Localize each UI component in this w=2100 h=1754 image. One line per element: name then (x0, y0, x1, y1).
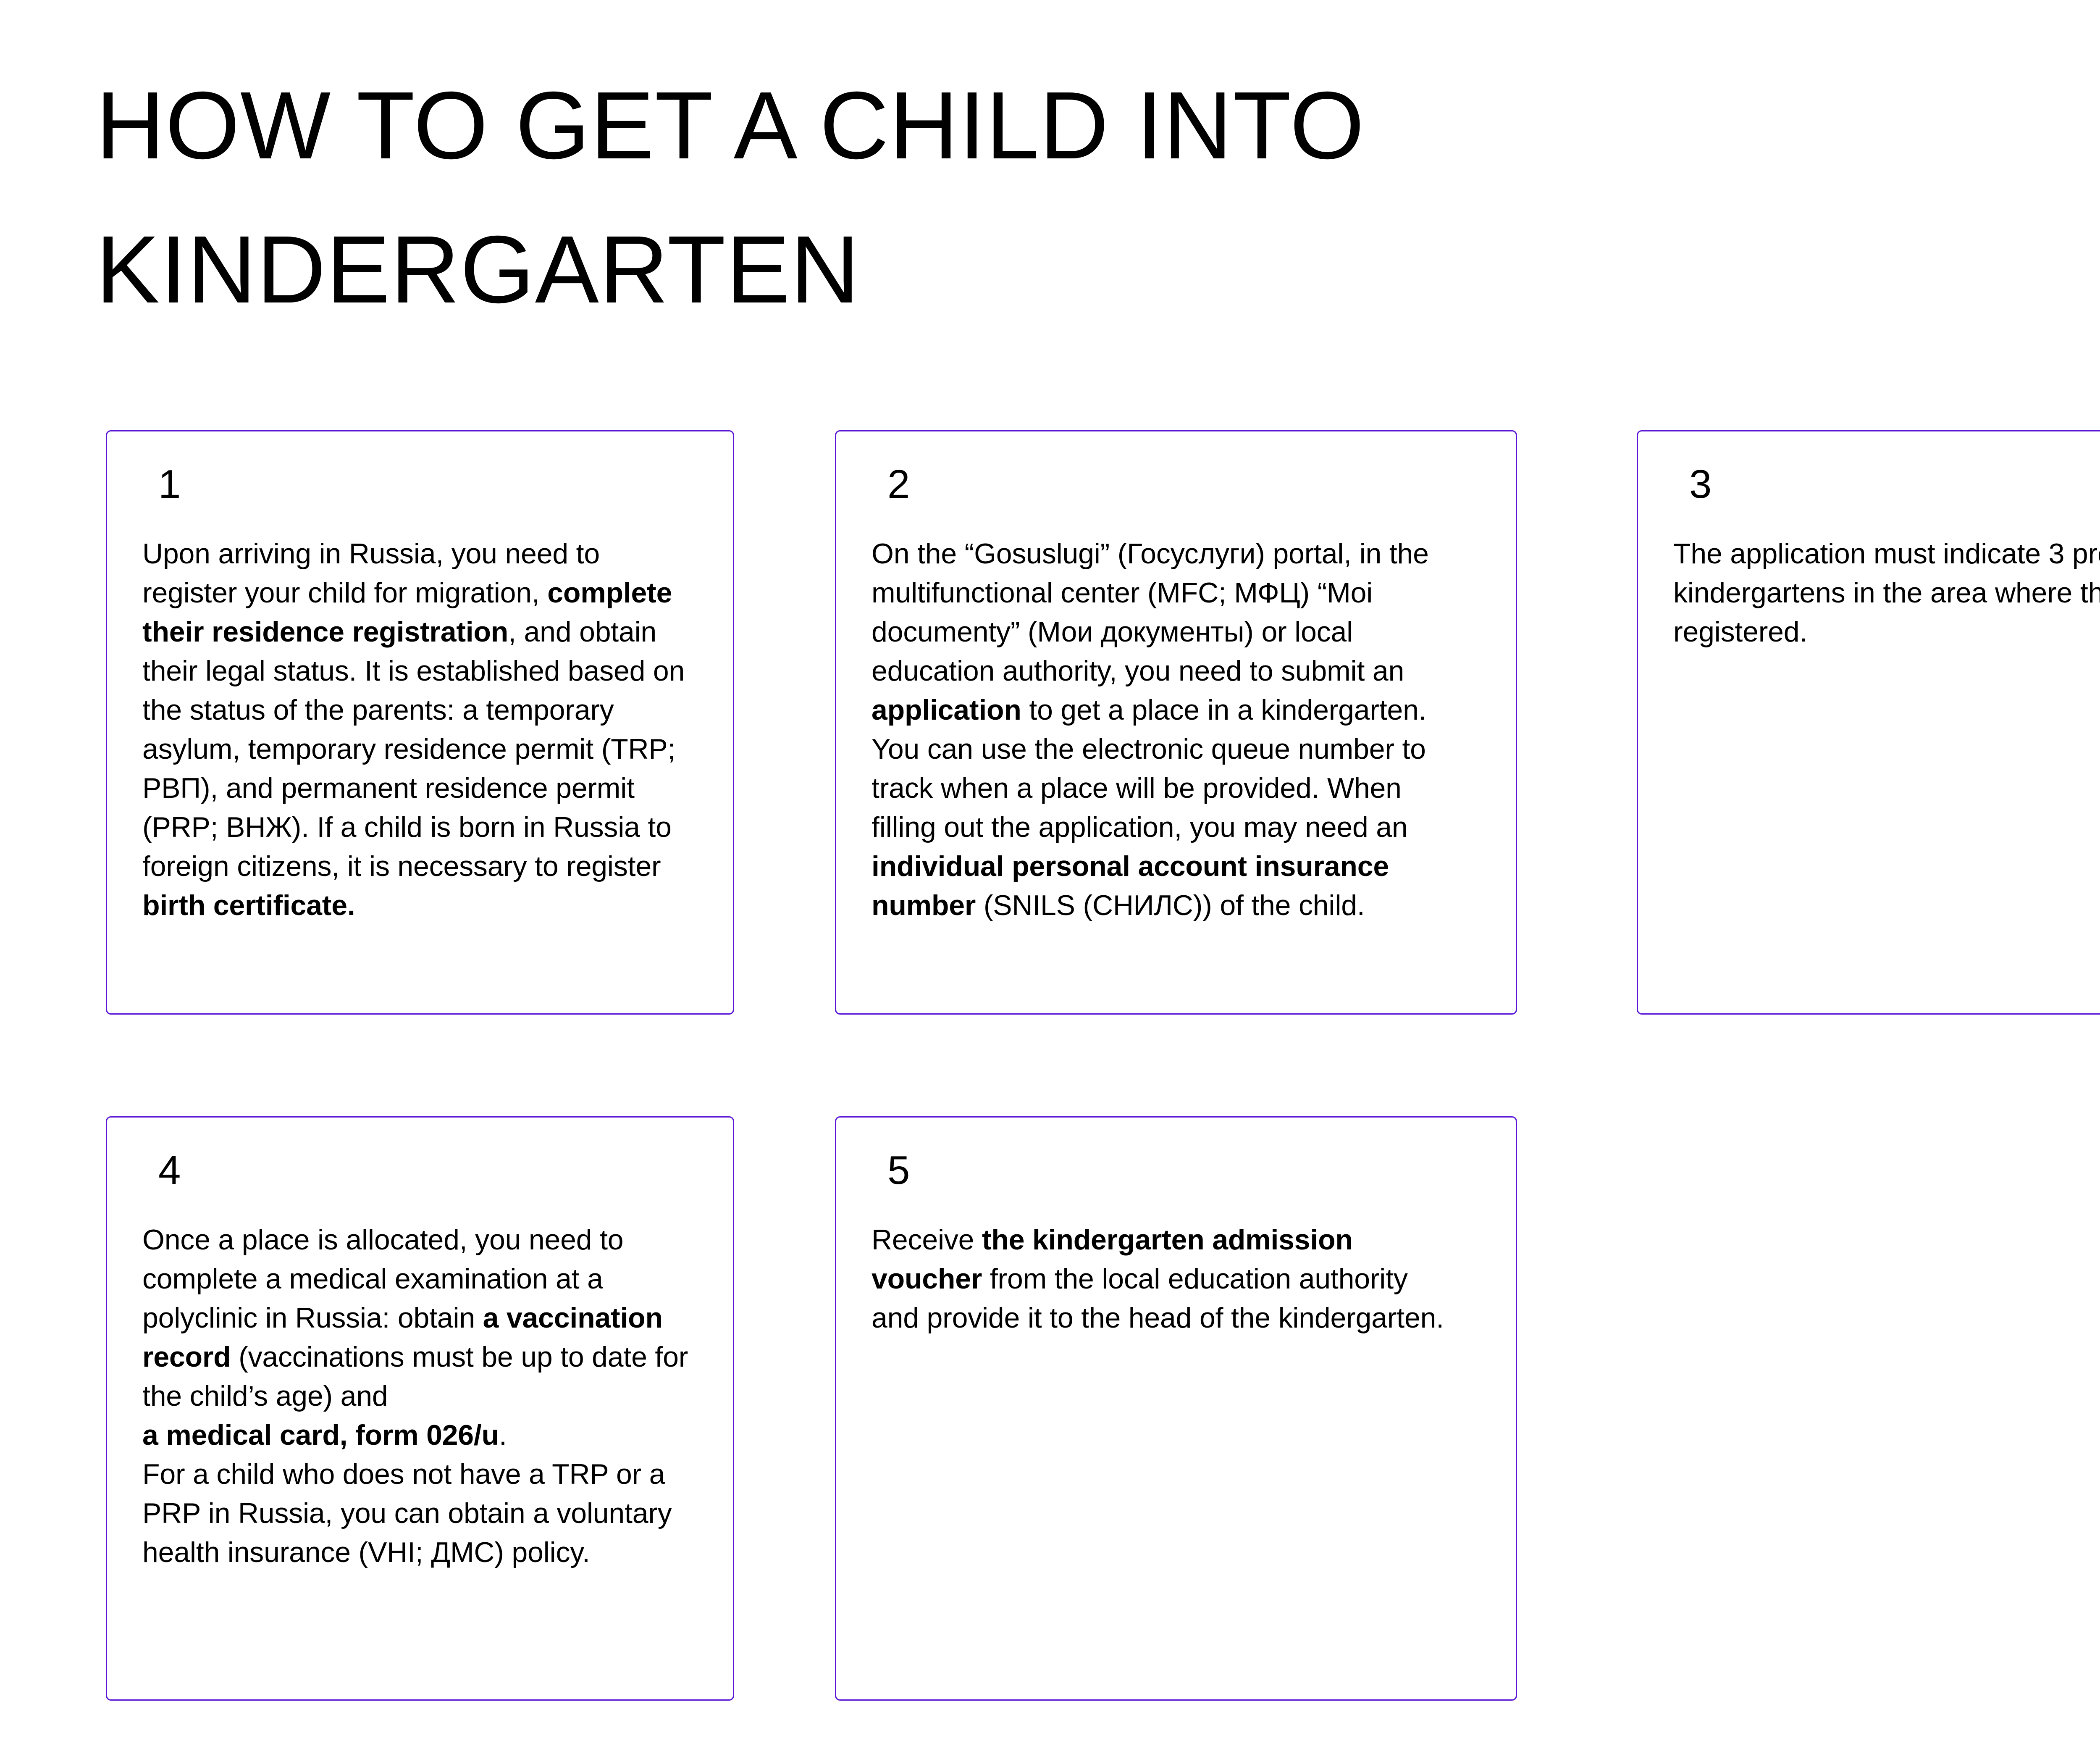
step-card-1: 1 Upon arriving in Russia, you need to r… (106, 430, 734, 1015)
step-number: 4 (158, 1150, 181, 1191)
steps-grid: 1 Upon arriving in Russia, you need to r… (0, 0, 2100, 1754)
step-card-3: 3 The application must indicate 3 prefer… (1637, 430, 2100, 1015)
step-card-5: 5 Receive the kindergarten admission vou… (835, 1116, 1517, 1701)
step-number: 3 (1689, 464, 1711, 505)
step-number: 5 (887, 1150, 910, 1191)
step-number: 1 (158, 464, 181, 505)
step-text: Once a place is allocated, you need to c… (142, 1220, 693, 1572)
step-text: Receive the kindergarten admission vouch… (871, 1220, 1459, 1338)
step-text: The application must indicate 3 preferre… (1673, 534, 2100, 652)
step-card-2: 2 On the “Gosuslugi” (Госуслуги) portal,… (835, 430, 1517, 1015)
step-text: Upon arriving in Russia, you need to reg… (142, 534, 693, 925)
step-card-4: 4 Once a place is allocated, you need to… (106, 1116, 734, 1701)
step-number: 2 (887, 464, 910, 505)
step-text: On the “Gosuslugi” (Госуслуги) portal, i… (871, 534, 1459, 925)
